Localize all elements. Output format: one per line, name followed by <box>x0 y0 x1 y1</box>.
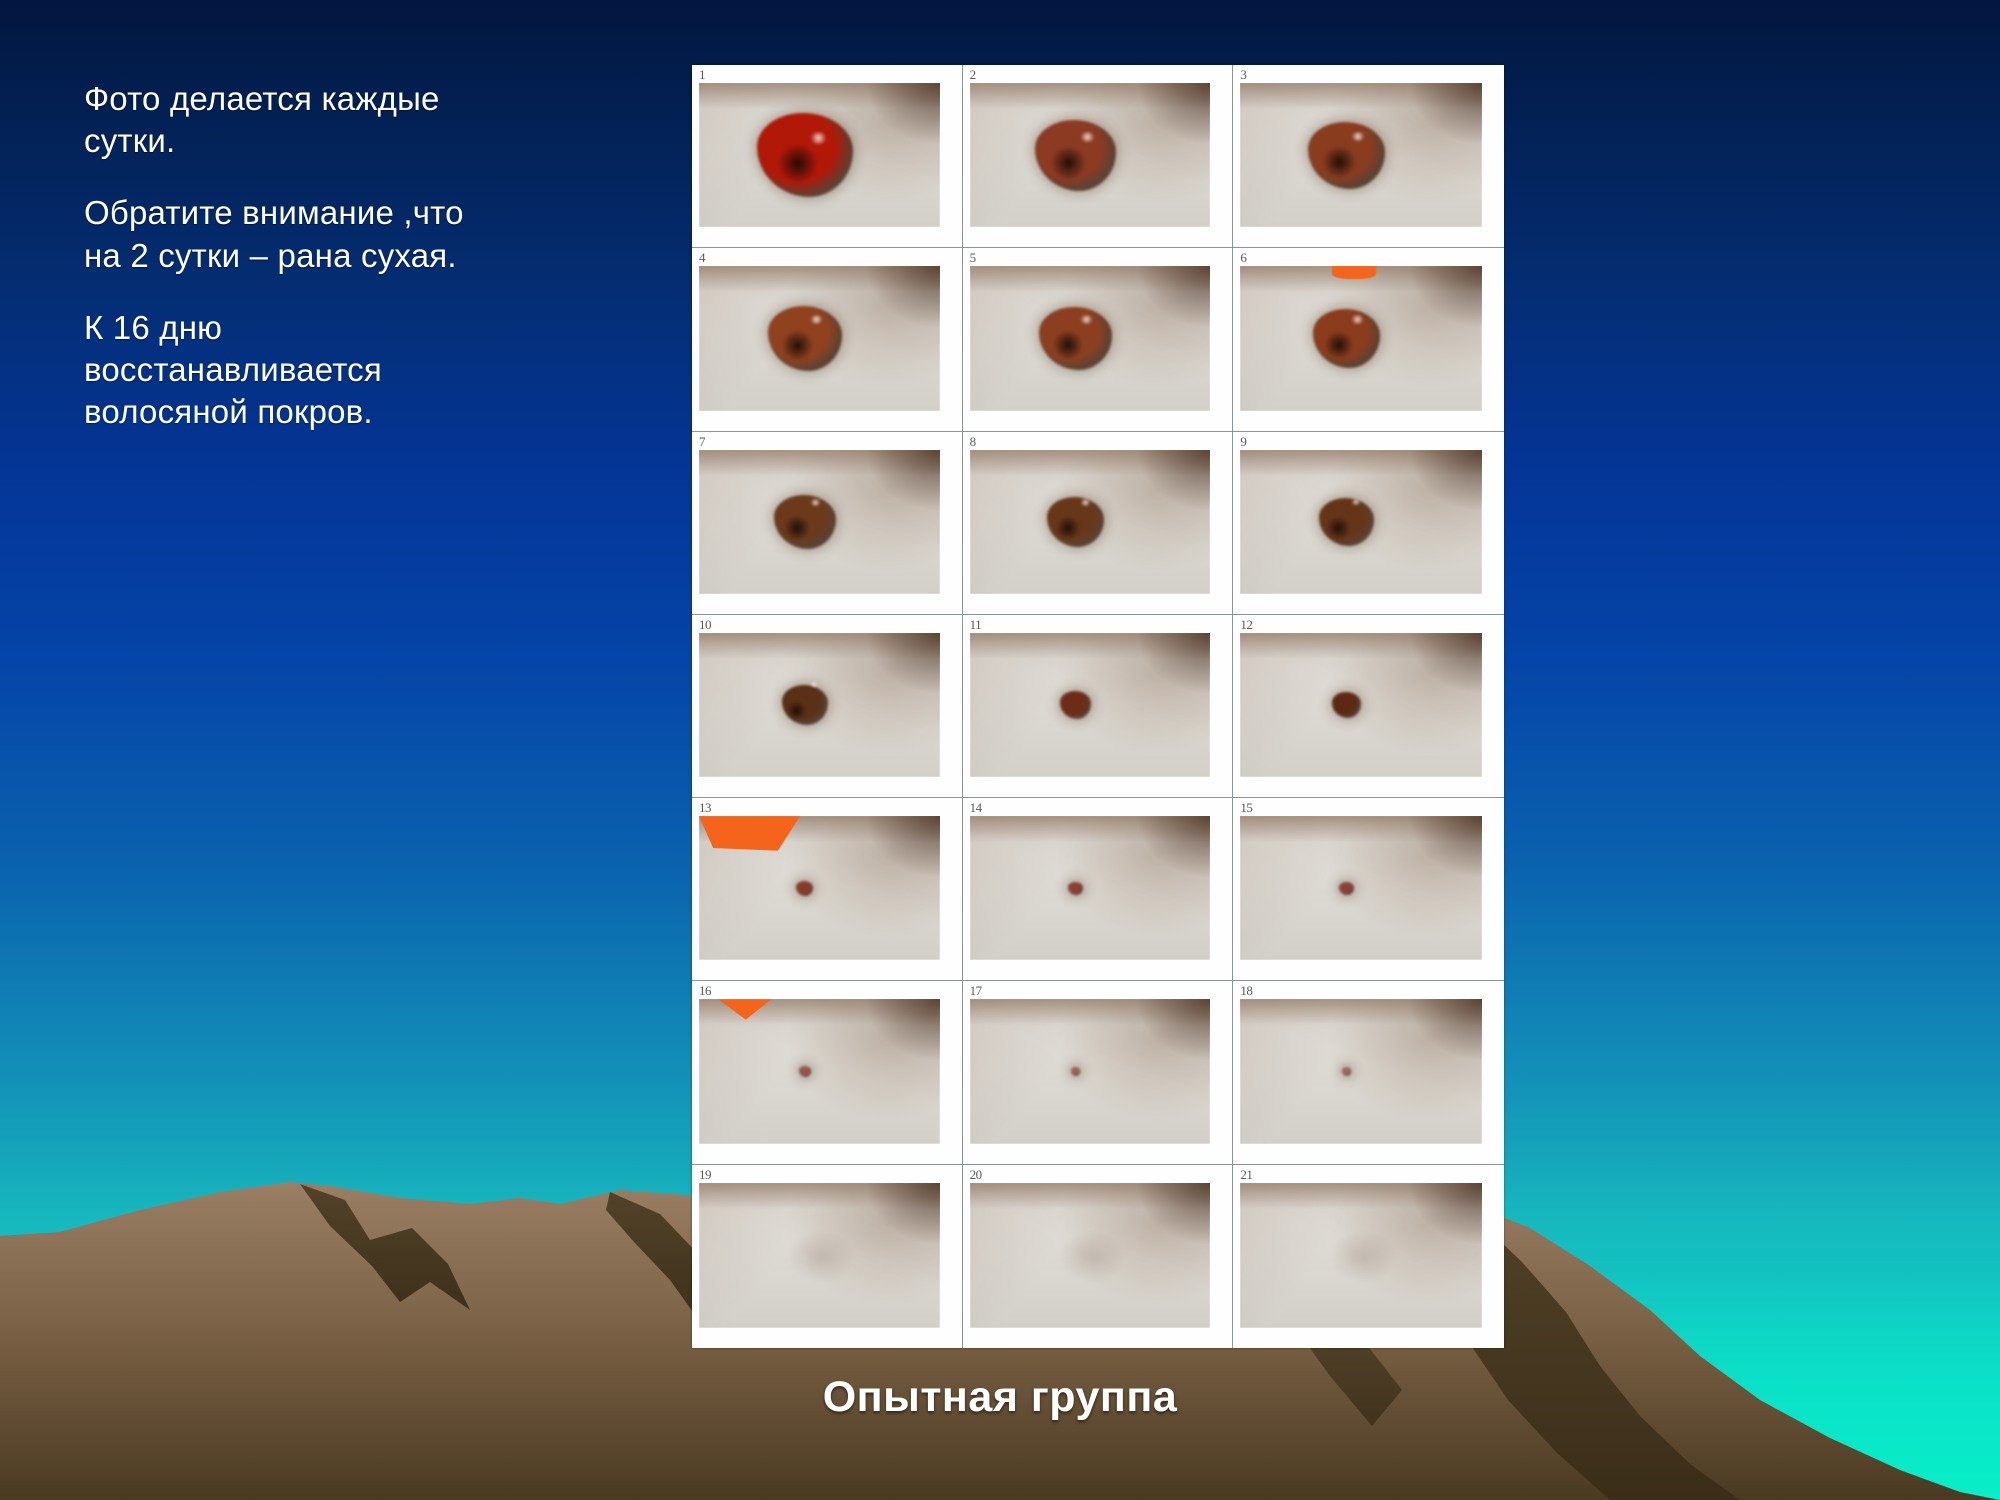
wound-photo <box>1240 1183 1482 1328</box>
wound-region <box>1332 692 1361 717</box>
photo-cell: 14 <box>963 798 1234 981</box>
photo-cell: 5 <box>963 248 1234 431</box>
wound-photo <box>1240 450 1482 594</box>
wound-photo <box>970 1183 1211 1328</box>
photo-cell: 8 <box>963 432 1234 615</box>
photo-cell-number: 1 <box>699 67 705 83</box>
body-paragraph-1: Фото делается каждые сутки. <box>84 78 484 162</box>
photo-cell-number: 8 <box>970 434 976 450</box>
wound-region <box>799 1066 811 1076</box>
photo-cell: 9 <box>1233 432 1504 615</box>
photo-cell-number: 15 <box>1240 800 1252 816</box>
photo-cell-number: 2 <box>970 67 976 83</box>
wound-photo <box>970 816 1211 960</box>
photo-cell-number: 6 <box>1240 250 1246 266</box>
photo-cell: 17 <box>963 981 1234 1164</box>
wound-photo <box>970 266 1211 410</box>
photo-cell-number: 17 <box>970 983 982 999</box>
wound-photo <box>699 633 940 777</box>
wound-photo <box>699 266 940 410</box>
photo-cell: 19 <box>692 1165 963 1348</box>
wound-photo <box>699 450 940 594</box>
photo-cell-number: 5 <box>970 250 976 266</box>
photo-cell: 13 <box>692 798 963 981</box>
wound-photo <box>1240 633 1482 777</box>
presentation-slide: Фото делается каждые сутки. Обратите вни… <box>0 0 2000 1500</box>
photo-cell: 6 <box>1233 248 1504 431</box>
photo-cell-number: 4 <box>699 250 705 266</box>
body-paragraph-3: К 16 дню восстанавливается волосяной пок… <box>84 307 484 434</box>
photo-cell: 4 <box>692 248 963 431</box>
photo-cell-number: 10 <box>699 617 711 633</box>
orange-marker-icon <box>1332 266 1375 279</box>
slide-body-text: Фото делается каждые сутки. Обратите вни… <box>84 78 484 464</box>
photo-cell-number: 13 <box>699 800 711 816</box>
photo-cell-number: 16 <box>699 983 711 999</box>
photo-cell: 16 <box>692 981 963 1164</box>
wound-region <box>1061 1232 1124 1281</box>
wound-region <box>1071 1067 1081 1075</box>
wound-photo <box>1240 266 1482 410</box>
photo-cell-number: 7 <box>699 434 705 450</box>
wound-region <box>1060 691 1091 718</box>
wound-photo <box>970 633 1211 777</box>
photo-cell: 1 <box>692 65 963 248</box>
photo-cell: 20 <box>963 1165 1234 1348</box>
wound-photo <box>699 1183 940 1328</box>
wound-photo <box>699 83 940 227</box>
photo-cell: 2 <box>963 65 1234 248</box>
photo-cell: 15 <box>1233 798 1504 981</box>
photo-cell: 3 <box>1233 65 1504 248</box>
photo-cell: 10 <box>692 615 963 798</box>
photo-cell: 7 <box>692 432 963 615</box>
photo-cell: 18 <box>1233 981 1504 1164</box>
photo-cell-number: 14 <box>970 800 982 816</box>
wound-region <box>1332 1232 1395 1281</box>
photo-cell-number: 11 <box>970 617 982 633</box>
photo-cell-number: 12 <box>1240 617 1252 633</box>
wound-region <box>1339 882 1353 895</box>
photo-cell-number: 18 <box>1240 983 1252 999</box>
photo-cell-number: 20 <box>970 1167 982 1183</box>
wound-photo <box>1240 83 1482 227</box>
wound-photo <box>699 816 940 960</box>
body-paragraph-2: Обратите внимание ,что на 2 сутки – рана… <box>84 192 484 276</box>
photo-cell: 12 <box>1233 615 1504 798</box>
wound-photo <box>970 83 1211 227</box>
photo-cell: 11 <box>963 615 1234 798</box>
photo-cell-number: 3 <box>1240 67 1246 83</box>
wound-region <box>1068 882 1082 895</box>
wound-healing-photo-grid: 123456789101112131415161718192021 <box>692 65 1504 1348</box>
wound-photo <box>970 999 1211 1143</box>
wound-region <box>1342 1067 1352 1075</box>
photo-cell-number: 19 <box>699 1167 711 1183</box>
wound-region <box>796 881 813 896</box>
wound-photo <box>1240 999 1482 1143</box>
photo-cell-number: 21 <box>1240 1167 1252 1183</box>
photo-cell-number: 9 <box>1240 434 1246 450</box>
wound-photo <box>1240 816 1482 960</box>
photo-cell: 21 <box>1233 1165 1504 1348</box>
slide-caption: Опытная группа <box>0 1373 2000 1422</box>
wound-photo <box>699 999 940 1143</box>
wound-photo <box>970 450 1211 594</box>
